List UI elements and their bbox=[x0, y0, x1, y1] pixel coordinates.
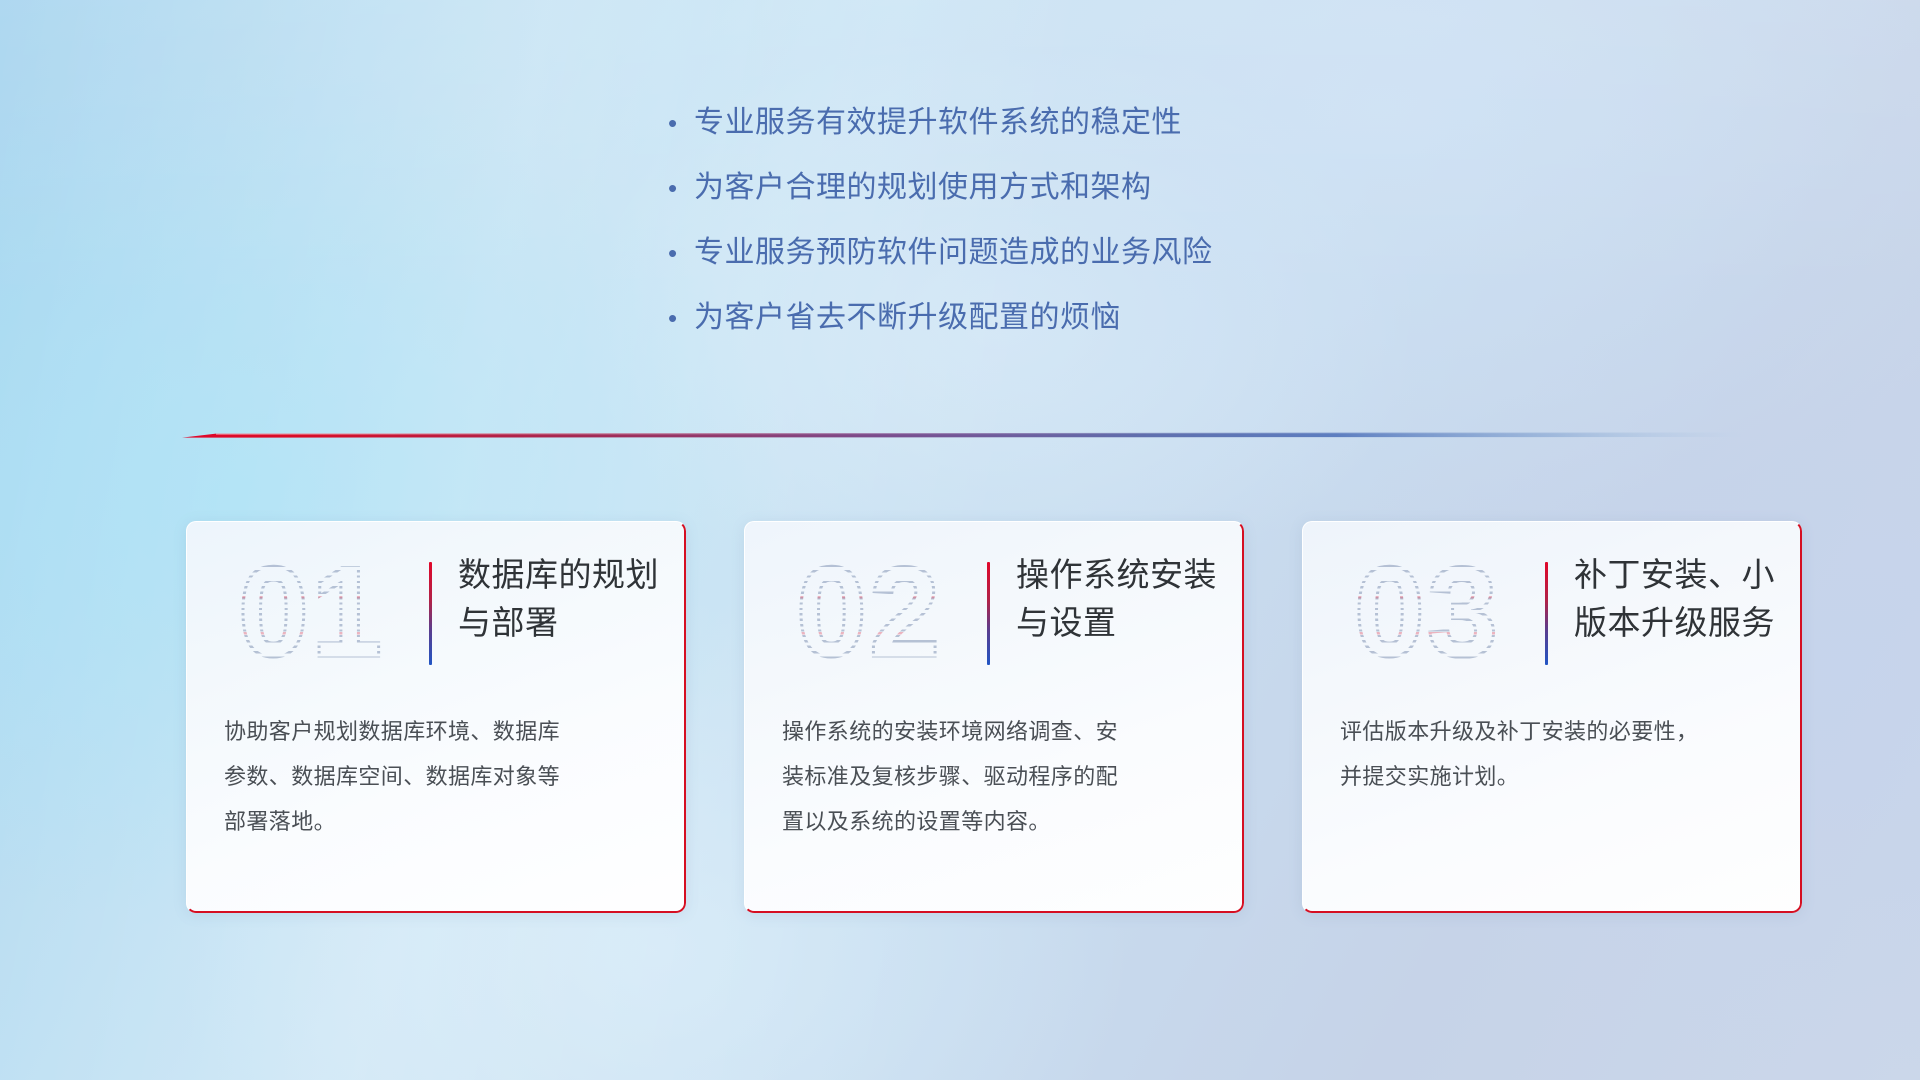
bullet-item-4: • 为客户省去不断升级配置的烦恼 bbox=[668, 303, 1568, 368]
bullet-item-2: • 为客户合理的规划使用方式和架构 bbox=[668, 173, 1568, 238]
card-title-line-1: 数据库的规划 bbox=[458, 551, 668, 599]
bullet-item-1: • 专业服务有效提升软件系统的稳定性 bbox=[668, 108, 1568, 173]
card-title-line-2: 版本升级服务 bbox=[1574, 599, 1784, 647]
card-accent-rule bbox=[987, 562, 990, 665]
card-title-01: 数据库的规划 与部署 bbox=[458, 551, 668, 647]
card-body-line-2: 装标准及复核步骤、驱动程序的配 bbox=[782, 754, 1212, 799]
card-number-watermark-accent-02: 02 bbox=[774, 543, 964, 683]
bullet-item-3: • 专业服务预防软件问题造成的业务风险 bbox=[668, 238, 1568, 303]
card-body-line-3: 部署落地。 bbox=[224, 799, 654, 844]
service-card-01[interactable]: 01 01 数据库的规划 与部署 协助客户规划数据库环境、数据库 参数、数据库空… bbox=[186, 521, 686, 913]
card-title-line-2: 与设置 bbox=[1016, 599, 1226, 647]
section-divider bbox=[182, 428, 1742, 442]
bullet-text-2: 为客户合理的规划使用方式和架构 bbox=[694, 173, 1152, 203]
card-body-line-1: 协助客户规划数据库环境、数据库 bbox=[224, 709, 654, 754]
card-title-03: 补丁安装、小 版本升级服务 bbox=[1574, 551, 1784, 647]
card-title-line-1: 补丁安装、小 bbox=[1574, 551, 1784, 599]
card-body-line-2: 参数、数据库空间、数据库对象等 bbox=[224, 754, 654, 799]
service-card-list: 01 01 数据库的规划 与部署 协助客户规划数据库环境、数据库 参数、数据库空… bbox=[186, 521, 1802, 916]
card-body-02: 操作系统的安装环境网络调查、安 装标准及复核步骤、驱动程序的配 置以及系统的设置… bbox=[782, 709, 1212, 844]
bullet-dot-icon: • bbox=[668, 305, 694, 331]
card-body-line-2: 并提交实施计划。 bbox=[1340, 754, 1770, 799]
bullet-dot-icon: • bbox=[668, 175, 694, 201]
bullet-dot-icon: • bbox=[668, 110, 694, 136]
service-card-02[interactable]: 02 02 操作系统安装 与设置 操作系统的安装环境网络调查、安 装标准及复核步… bbox=[744, 521, 1244, 913]
slide-canvas: • 专业服务有效提升软件系统的稳定性 • 为客户合理的规划使用方式和架构 • 专… bbox=[0, 0, 1920, 1080]
card-body-03: 评估版本升级及补丁安装的必要性， 并提交实施计划。 bbox=[1340, 709, 1770, 799]
card-accent-rule bbox=[1545, 562, 1548, 665]
bullet-text-3: 专业服务预防软件问题造成的业务风险 bbox=[694, 238, 1213, 268]
card-title-line-1: 操作系统安装 bbox=[1016, 551, 1226, 599]
card-number-watermark-accent-01: 01 bbox=[216, 543, 406, 683]
bullet-list: • 专业服务有效提升软件系统的稳定性 • 为客户合理的规划使用方式和架构 • 专… bbox=[668, 108, 1568, 368]
card-body-line-3: 置以及系统的设置等内容。 bbox=[782, 799, 1212, 844]
card-title-02: 操作系统安装 与设置 bbox=[1016, 551, 1226, 647]
card-accent-rule bbox=[429, 562, 432, 665]
bullet-text-4: 为客户省去不断升级配置的烦恼 bbox=[694, 303, 1121, 333]
card-number-watermark-accent-03: 03 bbox=[1332, 543, 1522, 683]
card-body-line-1: 评估版本升级及补丁安装的必要性， bbox=[1340, 709, 1770, 754]
service-card-03[interactable]: 03 03 补丁安装、小 版本升级服务 评估版本升级及补丁安装的必要性， 并提交… bbox=[1302, 521, 1802, 913]
card-title-line-2: 与部署 bbox=[458, 599, 668, 647]
bullet-text-1: 专业服务有效提升软件系统的稳定性 bbox=[694, 108, 1182, 138]
card-body-line-1: 操作系统的安装环境网络调查、安 bbox=[782, 709, 1212, 754]
bullet-dot-icon: • bbox=[668, 240, 694, 266]
card-body-01: 协助客户规划数据库环境、数据库 参数、数据库空间、数据库对象等 部署落地。 bbox=[224, 709, 654, 844]
